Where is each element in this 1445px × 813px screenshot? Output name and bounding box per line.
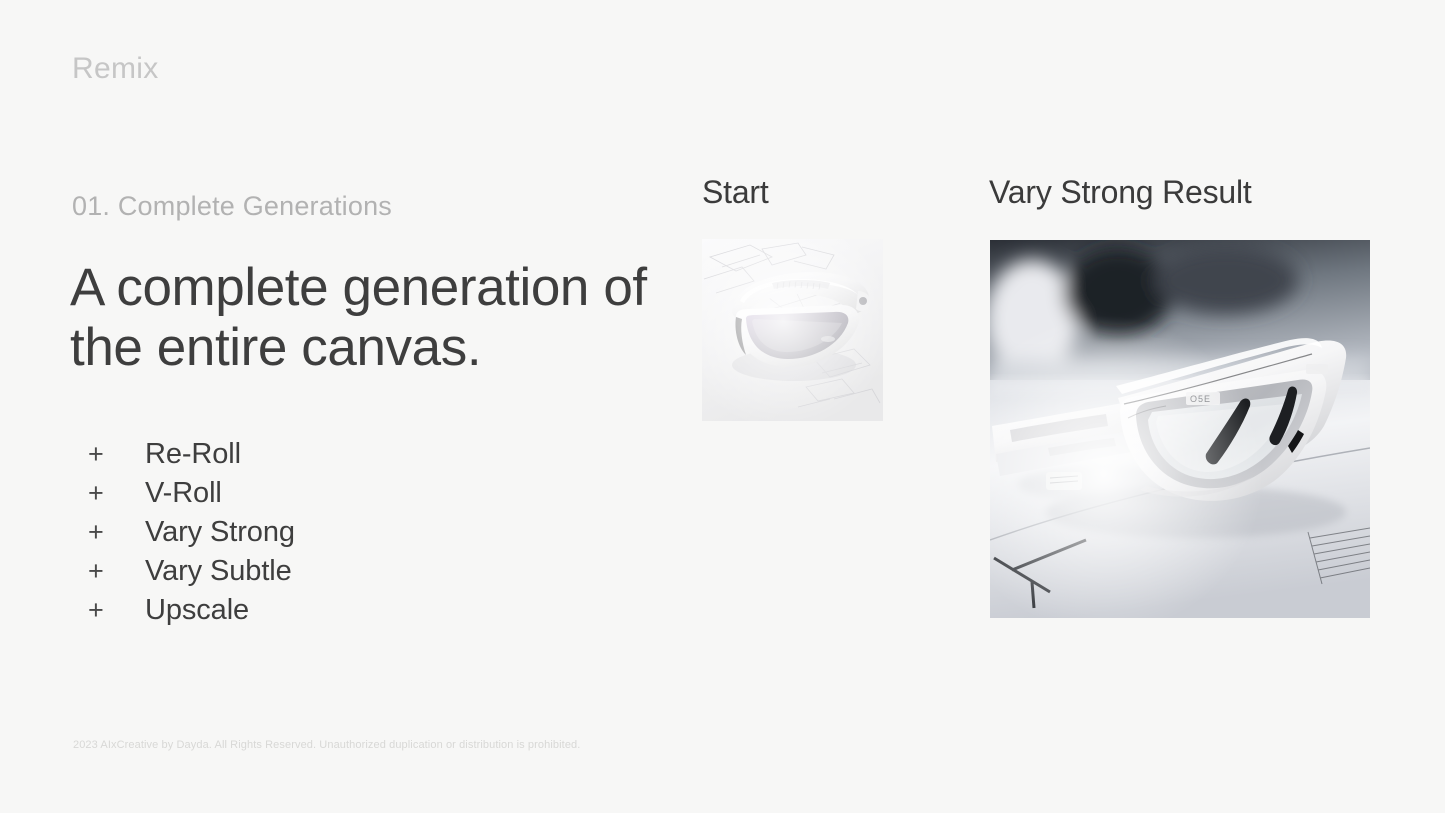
list-item: + Re-Roll [88, 440, 295, 479]
slide-canvas: Remix 01. Complete Generations A complet… [0, 0, 1445, 813]
feature-label: Upscale [145, 596, 249, 625]
feature-list: + Re-Roll + V-Roll + Vary Strong + Vary … [88, 440, 295, 635]
plus-icon: + [88, 597, 145, 624]
feature-label: V-Roll [145, 479, 222, 508]
copyright-footer: 2023 AIxCreative by Dayda. All Rights Re… [73, 740, 580, 751]
start-image-render [702, 239, 883, 421]
start-image [702, 239, 883, 421]
list-item: + Vary Subtle [88, 557, 295, 596]
column-heading-result: Vary Strong Result [989, 176, 1252, 208]
page-title: A complete generation of the entire canv… [70, 258, 680, 379]
list-item: + V-Roll [88, 479, 295, 518]
vary-strong-result-image: O5E [990, 240, 1370, 618]
list-item: + Vary Strong [88, 518, 295, 557]
list-item: + Upscale [88, 596, 295, 635]
plus-icon: + [88, 558, 145, 585]
plus-icon: + [88, 519, 145, 546]
deck-title: Remix [72, 54, 159, 84]
plus-icon: + [88, 480, 145, 507]
section-label: 01. Complete Generations [72, 190, 392, 222]
plus-icon: + [88, 441, 145, 468]
column-heading-start: Start [702, 176, 769, 208]
feature-label: Vary Strong [145, 518, 295, 547]
feature-label: Vary Subtle [145, 557, 292, 586]
vary-strong-result-render: O5E [990, 240, 1370, 618]
feature-label: Re-Roll [145, 440, 241, 469]
